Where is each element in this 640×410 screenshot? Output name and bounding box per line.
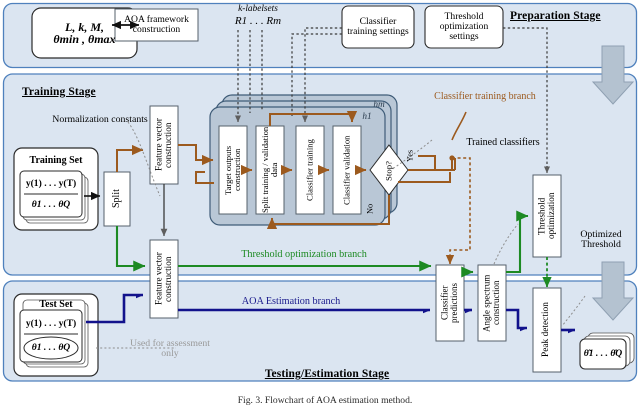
test-set-signal: y(1) . . . y(T): [20, 314, 82, 334]
classifier-predictions-box[interactable]: Classifier predictions: [436, 265, 464, 341]
box-classifier-validation[interactable]: Classifier validation: [333, 126, 361, 214]
training-set-title: Training Set: [30, 156, 83, 167]
training-set-angles: θ1 . . . θQ: [20, 195, 82, 215]
classifier-settings-box[interactable]: Classifier training settings: [342, 6, 414, 48]
test-set-angles: θ1 . . . θQ: [20, 338, 82, 358]
training-set-label: Training Set: [14, 150, 98, 172]
threshold-optimization-branch-label: Threshold optimization branch: [204, 247, 404, 263]
feature-vector-bottom-box[interactable]: Feature vector construction: [150, 240, 178, 318]
aoa-estimation-branch-label: AOA Estimation branch: [206, 294, 376, 310]
figure-root: Preparation Stage L, k, M, θmin , θmax A…: [0, 0, 640, 406]
threshold-optimization-box[interactable]: Threshold optimization: [533, 175, 561, 257]
decision-no-label: No: [364, 196, 378, 222]
peak-detection-box[interactable]: Peak detection: [533, 288, 561, 372]
figure-caption: Fig. 3. Flowchart of AOA estimation meth…: [130, 392, 520, 410]
threshold-settings-box[interactable]: Threshold optimization settings: [425, 6, 503, 48]
normalization-constants-label: Normalization constants: [48, 105, 152, 135]
test-set-title: Test Set: [39, 300, 72, 310]
split-box[interactable]: Split: [104, 172, 130, 226]
training-stage-title: Training Stage: [22, 84, 142, 102]
classifier-training-branch-label: Classifier training branch: [430, 82, 540, 112]
decision-yes-label: Yes: [404, 142, 418, 170]
preparation-stage-title: Preparation Stage: [510, 8, 634, 26]
box-split-training-validation[interactable]: Split training / validation data: [256, 126, 284, 214]
training-set-signal: y(1) . . . y(T): [20, 174, 82, 194]
group-label-h1: h1: [352, 111, 382, 125]
aoa-framework-box[interactable]: AOA framework construction: [115, 9, 198, 41]
box-target-outputs[interactable]: Target outputs construction: [219, 126, 247, 214]
feature-vector-top-box[interactable]: Feature vector construction: [150, 106, 178, 184]
decision-stop[interactable]: Stop?: [375, 152, 403, 190]
labelsets-value: R1 . . . Rm: [208, 15, 308, 29]
output-angles: θ̂1 . . . θ̂Q: [580, 339, 626, 369]
testing-stage-title: Testing/Estimation Stage: [232, 366, 422, 384]
assessment-note-label: Used for assessment only: [124, 327, 216, 371]
optimized-threshold-label: Optimized Threshold: [563, 225, 639, 255]
angle-spectrum-box[interactable]: Angle spectrum construction: [478, 265, 506, 341]
trained-classifiers-label: Trained classifiers: [460, 128, 546, 158]
params-line2: θmin , θmax: [53, 33, 115, 45]
box-classifier-training[interactable]: Classifier training: [296, 126, 324, 214]
test-set-label: Test Set: [14, 296, 98, 314]
